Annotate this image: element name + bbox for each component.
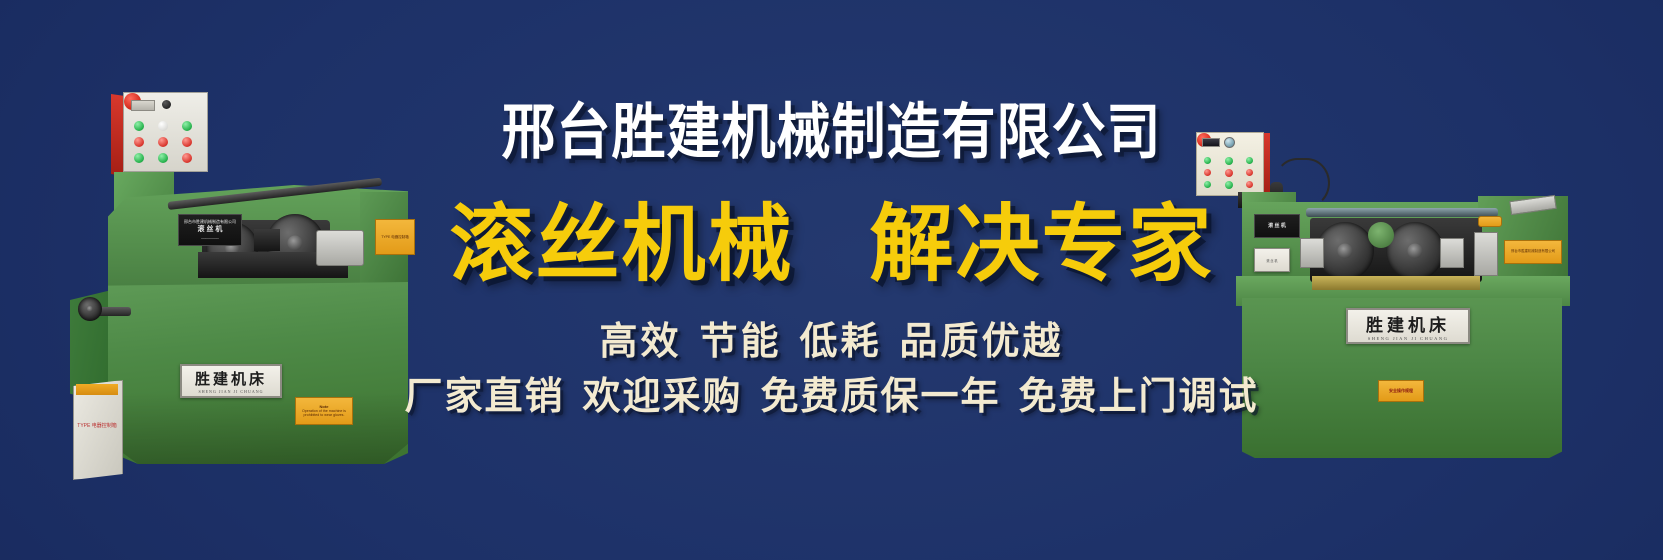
meter-display-icon [131,100,155,111]
operation-label-right: TYPE 电器控制箱 [375,219,415,255]
promotional-banner: 邢台市胜建机械制造有限公司 滚 丝 机 ________ TYPE 电器控制箱 … [0,0,1663,560]
spec-plate-dark-right: 滚 丝 机 [1254,214,1300,238]
safety-warning-label-left: Note Operation of the machine is prohibi… [295,397,353,425]
brand-nameplate-pinyin: SHENG JIAN JI CHUANG [199,389,264,394]
terminal-block [1478,216,1502,227]
spec-card-left: 滚 丝 机 [1254,248,1290,272]
panel-button[interactable] [134,121,144,131]
panel-button[interactable] [1225,181,1233,189]
top-cross-bar [1306,208,1498,217]
panel-button[interactable] [1246,157,1253,164]
panel-button[interactable] [1246,181,1253,188]
sub1-item-2: 低耗 [800,321,882,363]
roller-die-right [1386,222,1444,280]
brand-nameplate-cn: 胜建机床 [195,368,267,389]
spec-plate-title: 邢台市胜建机械制造有限公司 [1511,250,1555,254]
headline-left: 滚丝机械 [449,197,793,291]
panel-button[interactable] [1204,169,1211,176]
panel-button[interactable] [182,121,192,131]
operation-label-text: TYPE 电器控制箱 [381,235,409,239]
control-panel-right [1196,132,1264,196]
die-holder-right [1440,238,1464,268]
panel-button[interactable] [1204,181,1211,188]
panel-button[interactable] [158,153,168,163]
electrical-cabinet-label: TYPE 电器控制箱 [76,422,118,430]
panel-button[interactable] [1246,169,1253,176]
drive-motor-cover [316,230,364,266]
spec-plate-model: 滚 丝 机 [1268,223,1286,229]
panel-button[interactable] [1225,169,1233,177]
safety-rules-label-right: 安全操作规程 [1378,380,1424,402]
spec-plate-right: 邢台市胜建机械制造有限公司 [1504,240,1562,264]
panel-button[interactable] [182,137,192,147]
sub2-item-0: 厂家直销 [404,376,564,418]
meter-display-icon [1202,138,1220,147]
panel-button[interactable] [182,153,192,163]
spec-plate-title: 邢台市胜建机械制造有限公司 [184,220,236,225]
die-holder-left [1300,238,1324,268]
headline-right: 解决专家 [870,197,1214,291]
roller-linkage [254,229,280,251]
panel-button[interactable] [1225,157,1233,165]
spec-plate-left: 邢台市胜建机械制造有限公司 滚 丝 机 ________ [178,214,242,246]
electrical-cabinet-strip [76,384,118,395]
brand-nameplate-right: 胜建机床 SHENG JIAN JI CHUANG [1346,308,1470,344]
sub2-item-2: 免费质保一年 [761,376,1001,418]
work-support-rail [1312,276,1480,290]
sub1-item-1: 节能 [699,321,781,363]
control-panel-left [123,92,208,172]
sub1-item-0: 高效 [599,321,681,363]
panel-button[interactable] [134,153,144,163]
brand-nameplate-left: 胜建机床 SHENG JIAN JI CHUANG [180,364,282,398]
brand-nameplate-cn: 胜建机床 [1366,311,1450,336]
brand-nameplate-pinyin: SHENG JIAN JI CHUANG [1368,336,1449,341]
selector-knob-icon[interactable] [162,100,171,109]
tailstock-hub [78,297,102,321]
panel-button[interactable] [158,137,168,147]
roller-die-left [1316,222,1374,280]
machine-base-shading [108,392,408,464]
selector-knob-icon[interactable] [1224,137,1235,148]
center-gear [1368,222,1394,248]
coolant-valve-unit [1474,232,1498,276]
safety-rules-title: 安全操作规程 [1389,389,1413,394]
safety-warning-text: Operation of the machine is prohibited t… [297,409,351,417]
panel-button[interactable] [134,137,144,147]
electrical-cabinet-left [73,380,123,480]
spec-card-text: 滚 丝 机 [1266,258,1277,263]
spec-plate-rows: ________ [201,235,219,240]
sub1-item-3: 品质优越 [900,321,1064,363]
panel-button[interactable] [1204,157,1211,164]
panel-button[interactable] [158,121,168,131]
sub2-item-1: 欢迎采购 [582,376,742,418]
thread-rolling-machine-right-image: 邢台市胜建机械制造有限公司 滚 丝 机 滚 丝 机 胜建机床 SHENG JIA… [1178,130,1638,470]
thread-rolling-machine-left-image: 邢台市胜建机械制造有限公司 滚 丝 机 ________ TYPE 电器控制箱 … [30,92,420,480]
spec-plate-model: 滚 丝 机 [198,226,223,234]
